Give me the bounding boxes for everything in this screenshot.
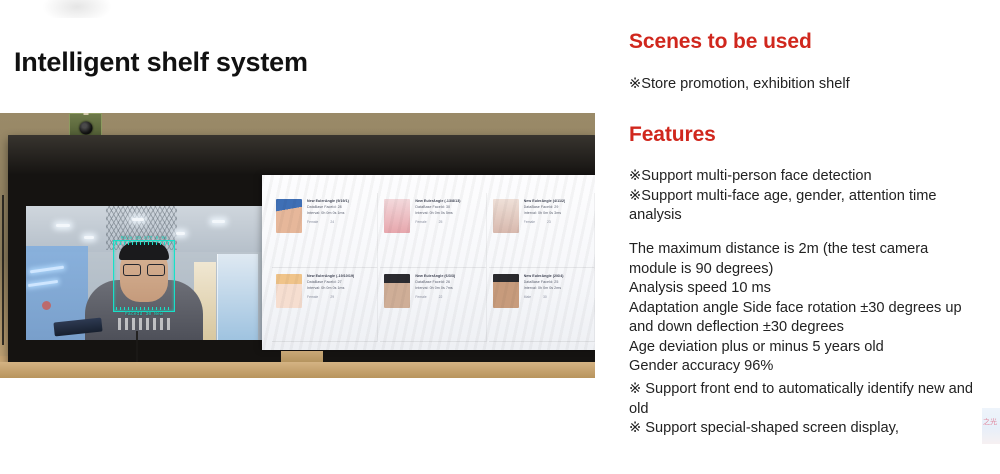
red-marker — [42, 301, 51, 310]
camera-mount — [83, 113, 88, 115]
feature-line: ※Support multi-face age, gender, attenti… — [629, 187, 979, 226]
scenes-heading: Scenes to be used — [629, 30, 812, 54]
detection-label-bottom: FaceId 30 New — [112, 312, 176, 317]
feature-line: Age deviation plus or minus 5 years old — [629, 338, 979, 358]
face-gender: Female — [307, 295, 318, 299]
face-interval: Interval: 0h 0m 0s 7ms — [415, 286, 455, 291]
face-card-meta: New EulerAngle (2/6/4) DataBase FaceId: … — [524, 274, 564, 299]
cable — [2, 195, 4, 345]
feature-line: ※ Support special-shaped screen display, — [629, 419, 979, 439]
face-analytics-panel: New EulerAngle (9/19/1) DataBase FaceId:… — [262, 175, 595, 350]
scenes-item: ※Store promotion, exhibition shelf — [629, 75, 850, 95]
ceiling-light — [132, 218, 144, 221]
face-gender: Female — [307, 220, 318, 224]
face-detection-box: Male 29 ATT 0.9s FaceId 30 New — [113, 240, 175, 312]
face-card: New EulerAngle (9/19/1) DataBase FaceId:… — [272, 193, 378, 268]
face-euler-angle: New EulerAngle (2/6/4) — [524, 274, 564, 279]
face-thumb-woman-blonde — [276, 274, 302, 308]
face-card-footer: Male 30 — [524, 295, 564, 299]
face-age: 29 — [330, 295, 334, 299]
camera-lens-icon — [79, 121, 92, 134]
face-thumb-woman-cap — [276, 199, 302, 233]
face-age: 23 — [547, 220, 551, 224]
face-database-id: DataBase FaceId: 28 — [307, 205, 349, 210]
table-surface — [0, 362, 595, 378]
face-thumb-woman-red-lips — [384, 199, 410, 233]
ceiling-light — [176, 232, 185, 235]
face-database-id: DataBase FaceId: 30 — [415, 205, 460, 210]
face-thumb-man-glasses — [384, 274, 410, 308]
face-database-id: DataBase FaceId: 27 — [307, 280, 354, 285]
face-euler-angle: New EulerAngle (6/3/3) — [415, 274, 455, 279]
face-gender: Female — [415, 220, 426, 224]
features-block-support: ※ Support front end to automatically ide… — [629, 380, 979, 439]
face-interval: Interval: 0h 0m 0s 1ms — [307, 211, 349, 216]
corner-fragment-glyph: 之光 — [983, 419, 997, 426]
cable — [136, 331, 138, 365]
monitor-bezel — [8, 135, 595, 175]
face-card-meta: New EulerAngle (-13/8/13) DataBase FaceI… — [415, 199, 460, 224]
hoodie-print — [118, 318, 170, 330]
intelligent-shelf-demo-photo: Male 29 ATT 0.9s FaceId 30 New New Euler… — [0, 113, 595, 378]
feature-line: Adaptation angle Side face rotation ±30 … — [629, 299, 979, 338]
face-card-footer: Female 23 — [524, 220, 566, 224]
face-database-id: DataBase FaceId: 29 — [524, 205, 566, 210]
face-interval: Interval: 0h 0m 0s 3ms — [524, 211, 566, 216]
detection-tick-row — [116, 307, 172, 310]
feature-line: ※Support multi-person face detection — [629, 167, 979, 187]
face-interval: Interval: 0h 0m 0s 2ms — [524, 286, 564, 291]
face-euler-angle: New EulerAngle (4/11/2) — [524, 199, 566, 204]
face-euler-angle: New EulerAngle (9/19/1) — [307, 199, 349, 204]
face-euler-angle: New EulerAngle (-19/10/19) — [307, 274, 354, 279]
feature-line: Gender accuracy 96% — [629, 357, 979, 377]
face-card-meta: New EulerAngle (-19/10/19) DataBase Face… — [307, 274, 354, 299]
fridge-display — [217, 254, 258, 340]
face-card-footer: Female 24 — [307, 220, 349, 224]
face-card-meta: New EulerAngle (9/19/1) DataBase FaceId:… — [307, 199, 349, 224]
face-thumb-woman-side — [493, 199, 519, 233]
face-euler-angle: New EulerAngle (-13/8/13) — [415, 199, 460, 204]
face-age: 24 — [330, 220, 334, 224]
face-gender: Male — [524, 295, 531, 299]
face-age: 30 — [543, 295, 547, 299]
face-gender: Female — [415, 295, 426, 299]
page-title: Intelligent shelf system — [14, 47, 308, 78]
face-database-id: DataBase FaceId: 26 — [415, 280, 455, 285]
feature-line: Analysis speed 10 ms — [629, 279, 979, 299]
face-interval: Interval: 0h 0m 0s 5ms — [415, 211, 460, 216]
live-camera-view: Male 29 ATT 0.9s FaceId 30 New — [26, 206, 262, 340]
background-smudge-artifact — [42, 0, 112, 18]
face-age: 22 — [439, 295, 443, 299]
features-block-detection: ※Support multi-person face detection ※Su… — [629, 167, 979, 226]
feature-line: The maximum distance is 2m (the test cam… — [629, 240, 979, 279]
detection-tick-row — [116, 242, 172, 245]
ceiling-light — [84, 236, 94, 239]
face-card-footer: Female 29 — [307, 295, 354, 299]
face-gender: Female — [524, 220, 535, 224]
face-card-meta: New EulerAngle (4/11/2) DataBase FaceId:… — [524, 199, 566, 224]
face-card: New EulerAngle (-13/8/13) DataBase FaceI… — [380, 193, 486, 268]
monitor-chassis: Male 29 ATT 0.9s FaceId 30 New New Euler… — [8, 135, 595, 367]
face-card-footer: Female 22 — [415, 295, 455, 299]
detection-label-top: Male 29 ATT 0.9s — [112, 236, 176, 241]
ceiling-light — [212, 220, 225, 223]
face-interval: Interval: 0h 0m 0s 1ms — [307, 286, 354, 291]
face-card: New EulerAngle (2/6/4) DataBase FaceId: … — [489, 268, 595, 343]
face-card: New EulerAngle (6/3/3) DataBase FaceId: … — [380, 268, 486, 343]
ceiling-light — [56, 224, 70, 227]
features-block-specs: The maximum distance is 2m (the test cam… — [629, 240, 979, 377]
corner-image-fragment: 之光 — [982, 408, 1000, 444]
face-card-grid: New EulerAngle (9/19/1) DataBase FaceId:… — [272, 193, 595, 342]
face-card: New EulerAngle (4/11/2) DataBase FaceId:… — [489, 193, 595, 268]
feature-line: ※ Support front end to automatically ide… — [629, 380, 979, 419]
face-card-meta: New EulerAngle (6/3/3) DataBase FaceId: … — [415, 274, 455, 299]
face-database-id: DataBase FaceId: 25 — [524, 280, 564, 285]
features-heading: Features — [629, 123, 716, 147]
face-card: New EulerAngle (-19/10/19) DataBase Face… — [272, 268, 378, 343]
face-card-footer: Female 25 — [415, 220, 460, 224]
face-age: 25 — [439, 220, 443, 224]
face-thumb-man-glasses-2 — [493, 274, 519, 308]
